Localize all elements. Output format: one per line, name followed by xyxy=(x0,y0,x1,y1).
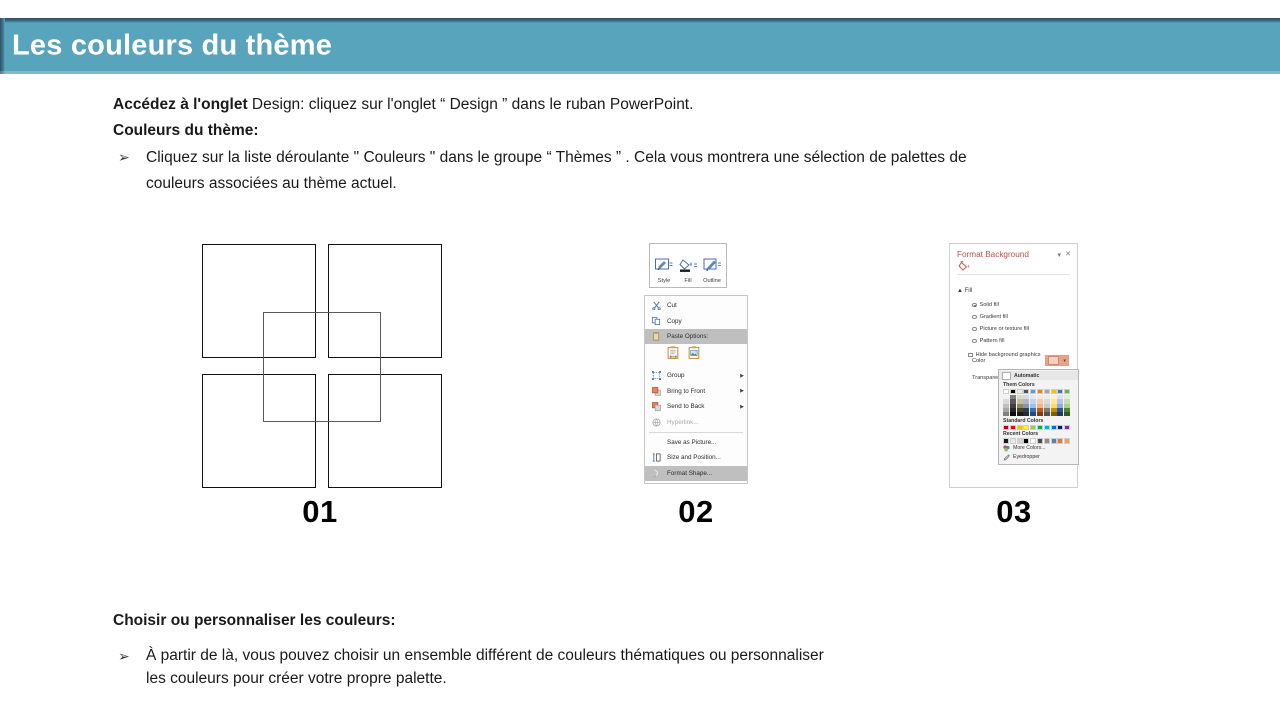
theme-shade-swatch[interactable] xyxy=(1010,412,1016,416)
outro-bullet-line-1: À partir de là, vous pouvez choisir un e… xyxy=(146,644,1113,667)
menu-item-paste-options[interactable]: Paste Options: xyxy=(645,329,747,344)
title-bar-top-edge xyxy=(0,18,1280,23)
theme-shade-swatch[interactable] xyxy=(1023,412,1029,416)
theme-shade-swatch[interactable] xyxy=(1030,412,1036,416)
automatic-label: Automatic xyxy=(1014,373,1039,379)
clipboard-icon xyxy=(645,332,667,341)
theme-shade-swatch[interactable] xyxy=(1037,412,1043,416)
intro-line-2: Couleurs du thème: xyxy=(113,118,1093,144)
eyedropper-label: Eyedropper xyxy=(1013,454,1040,460)
radio-solid-fill[interactable] xyxy=(972,303,977,308)
intro-bullet: ➢ Cliquez sur la liste déroulante " Coul… xyxy=(113,145,1093,196)
paste-picture-icon[interactable] xyxy=(688,346,701,365)
menu-label-send-to-back: Send to Back xyxy=(667,403,737,410)
outro-bullet: ➢ À partir de là, vous pouvez choisir un… xyxy=(113,644,1113,690)
eyedropper-item[interactable]: Eyedropper xyxy=(999,453,1078,462)
radio-pattern-fill[interactable] xyxy=(972,339,977,344)
recent-color-swatch[interactable] xyxy=(1010,438,1016,443)
checkbox-hide-background-graphics[interactable] xyxy=(968,353,973,358)
standard-color-swatch[interactable] xyxy=(1017,425,1023,430)
bullet-arrow-icon-2: ➢ xyxy=(113,644,146,669)
color-dropdown: Automatic Them Colors Standard Colors Re… xyxy=(998,369,1079,465)
scissors-icon xyxy=(645,301,667,310)
figure-number-01: 01 xyxy=(240,494,400,530)
more-colors-label: More Colors... xyxy=(1013,445,1046,451)
paint-bucket-icon xyxy=(676,255,700,277)
mini-toolbar-label-fill: Fill xyxy=(676,277,700,285)
page-title: Les couleurs du thème xyxy=(12,30,332,63)
menu-label-paste-options: Paste Options: xyxy=(667,333,737,340)
label-pattern-fill: Pattern fill xyxy=(980,338,1005,344)
recent-color-swatch[interactable] xyxy=(1023,438,1029,443)
recent-color-swatch[interactable] xyxy=(1057,438,1063,443)
recent-color-swatch[interactable] xyxy=(1044,438,1050,443)
minimize-icon[interactable]: ▾ xyxy=(1057,251,1061,259)
menu-label-group: Group xyxy=(667,372,737,379)
option-solid-fill[interactable]: Solid fill xyxy=(972,302,999,308)
dropdown-automatic-row[interactable]: Automatic xyxy=(999,371,1078,380)
option-gradient-fill[interactable]: Gradient fill xyxy=(972,314,1008,320)
standard-color-swatch[interactable] xyxy=(1010,425,1016,430)
paste-options-row xyxy=(645,344,747,368)
color-picker-button[interactable]: ▾ xyxy=(1045,355,1069,366)
standard-color-swatch[interactable] xyxy=(1037,425,1043,430)
theme-color-column[interactable] xyxy=(1057,389,1063,417)
outro-heading: Choisir ou personnaliser les couleurs: xyxy=(113,609,1113,632)
theme-color-column[interactable] xyxy=(1064,389,1070,417)
option-picture-or-texture-fill[interactable]: Picture or texture fill xyxy=(972,326,1029,332)
menu-item-size-and-position[interactable]: Size and Position... xyxy=(645,450,747,465)
theme-shade-swatch[interactable] xyxy=(1044,412,1050,416)
close-icon[interactable]: ✕ xyxy=(1065,250,1071,258)
figure-number-03: 03 xyxy=(934,494,1094,530)
chevron-down-icon: ▾ xyxy=(1063,358,1066,364)
standard-color-swatch[interactable] xyxy=(1030,425,1036,430)
standard-color-swatch[interactable] xyxy=(1023,425,1029,430)
menu-label-cut: Cut xyxy=(667,302,737,309)
recent-color-swatch[interactable] xyxy=(1030,438,1036,443)
menu-item-cut[interactable]: Cut xyxy=(645,298,747,313)
bullet-arrow-icon: ➢ xyxy=(113,145,146,170)
pen-outline-icon xyxy=(700,255,724,277)
figure-01-squares-diagram xyxy=(202,244,442,488)
standard-color-swatch[interactable] xyxy=(1044,425,1050,430)
theme-color-column[interactable] xyxy=(1003,389,1009,417)
theme-color-column[interactable] xyxy=(1023,389,1029,417)
menu-label-save-as-picture: Save as Picture... xyxy=(667,439,737,446)
menu-label-hyperlink: Hyperlink... xyxy=(667,419,737,426)
title-bar-left-edge xyxy=(0,18,5,74)
recent-color-swatch[interactable] xyxy=(1017,438,1023,443)
standard-colors-row[interactable] xyxy=(999,425,1078,430)
intro-line-1-bold: Accédez à l'onglet xyxy=(113,96,248,113)
standard-color-swatch[interactable] xyxy=(1003,425,1009,430)
theme-shade-swatch[interactable] xyxy=(1057,412,1063,416)
menu-item-copy[interactable]: Copy xyxy=(645,313,747,328)
intro-bullet-line-2: couleurs associées au thème actuel. xyxy=(146,171,1093,197)
paint-bucket-pane-icon[interactable] xyxy=(958,260,972,275)
menu-item-save-as-picture[interactable]: Save as Picture... xyxy=(645,435,747,450)
recent-colors-row[interactable] xyxy=(999,438,1078,443)
intro-line-2-bold: Couleurs du thème: xyxy=(113,122,259,139)
label-gradient-fill: Gradient fill xyxy=(980,314,1008,320)
intro-bullet-body: Cliquez sur la liste déroulante " Couleu… xyxy=(146,145,1093,196)
color-label: Color xyxy=(972,358,985,364)
menu-item-format-shape[interactable]: Format Shape... xyxy=(645,466,747,481)
option-pattern-fill[interactable]: Pattern fill xyxy=(972,338,1004,344)
theme-colors-grid[interactable] xyxy=(999,389,1078,417)
mini-toolbar-label-style: Style xyxy=(652,277,676,285)
menu-item-send-to-back[interactable]: Send to Back ▶ xyxy=(645,399,747,414)
send-back-icon xyxy=(645,402,667,411)
slide-root: Les couleurs du thème Accédez à l'onglet… xyxy=(0,0,1280,720)
menu-arrow-group: ▶ xyxy=(737,373,747,379)
menu-item-bring-to-front[interactable]: Bring to Front ▶ xyxy=(645,384,747,399)
theme-color-column[interactable] xyxy=(1010,389,1016,417)
bring-front-icon xyxy=(645,387,667,396)
format-background-title: Format Background xyxy=(957,250,1029,259)
outro-bullet-body: À partir de là, vous pouvez choisir un e… xyxy=(146,644,1113,690)
fill-section-header[interactable]: ▲ Fill xyxy=(957,288,972,294)
theme-color-column[interactable] xyxy=(1044,389,1050,417)
brush-style-icon xyxy=(652,255,676,277)
more-colors-item[interactable]: More Colors... xyxy=(999,444,1078,453)
eyedropper-icon xyxy=(1003,454,1010,461)
recent-color-swatch[interactable] xyxy=(1064,438,1070,443)
radio-picture-or-texture-fill[interactable] xyxy=(972,327,977,332)
theme-shade-swatch[interactable] xyxy=(1051,412,1057,416)
recent-color-swatch[interactable] xyxy=(1037,438,1043,443)
theme-shade-swatch[interactable] xyxy=(1017,412,1023,416)
theme-shade-swatch[interactable] xyxy=(1003,412,1009,416)
standard-color-swatch[interactable] xyxy=(1064,425,1070,430)
recent-color-swatch[interactable] xyxy=(1003,438,1009,443)
context-menu: Cut Copy Paste Options: xyxy=(644,295,748,484)
outro-bullet-line-2: les couleurs pour créer votre propre pal… xyxy=(146,667,1113,690)
intro-line-1: Accédez à l'onglet Design: cliquez sur l… xyxy=(113,92,1093,118)
size-position-icon xyxy=(645,453,667,462)
color-swatch xyxy=(1048,356,1059,365)
figure-02-context-menu: Style Fill xyxy=(644,243,748,488)
automatic-swatch xyxy=(1002,372,1011,380)
mini-toolbar: Style Fill xyxy=(649,243,727,288)
recent-color-swatch[interactable] xyxy=(1051,438,1057,443)
menu-label-copy: Copy xyxy=(667,318,737,325)
radio-gradient-fill[interactable] xyxy=(972,315,977,320)
pane-divider xyxy=(957,274,1070,275)
recent-colors-header: Recent Colors xyxy=(999,430,1078,439)
mini-toolbar-label-outline: Outline xyxy=(700,277,724,285)
label-solid-fill: Solid fill xyxy=(980,302,999,308)
more-colors-icon xyxy=(1003,445,1010,452)
menu-arrow-send-to-back: ▶ xyxy=(737,404,747,410)
standard-colors-header: Standard Colors xyxy=(999,416,1078,425)
slide-title-bar: Les couleurs du thème xyxy=(0,18,1280,74)
theme-colors-header: Them Colors xyxy=(999,380,1078,389)
theme-shade-swatch[interactable] xyxy=(1064,412,1070,416)
mini-toolbar-item-style[interactable]: Style xyxy=(652,255,676,285)
hyperlink-icon xyxy=(645,418,667,427)
theme-color-column[interactable] xyxy=(1037,389,1043,417)
mini-toolbar-item-outline[interactable]: Outline xyxy=(700,255,724,285)
square-center-overlay xyxy=(263,312,381,422)
group-icon xyxy=(645,371,667,380)
intro-text-block: Accédez à l'onglet Design: cliquez sur l… xyxy=(113,92,1093,196)
standard-color-swatch[interactable] xyxy=(1051,425,1057,430)
menu-label-bring-to-front: Bring to Front xyxy=(667,388,737,395)
outro-text-block: Choisir ou personnaliser les couleurs: ➢… xyxy=(113,609,1113,690)
menu-separator xyxy=(649,432,743,433)
menu-label-size-and-position: Size and Position... xyxy=(667,454,737,461)
format-shape-icon xyxy=(645,469,667,478)
intro-bullet-line-1: Cliquez sur la liste déroulante " Couleu… xyxy=(146,145,1093,171)
mini-toolbar-item-fill[interactable]: Fill xyxy=(676,255,700,285)
copy-icon xyxy=(645,317,667,326)
figure-number-02: 02 xyxy=(616,494,776,530)
menu-arrow-bring-to-front: ▶ xyxy=(737,388,747,394)
label-picture-or-texture-fill: Picture or texture fill xyxy=(980,326,1029,332)
theme-color-column[interactable] xyxy=(1017,389,1023,417)
figure-03-format-background-pane: Format Background ▾ ✕ ▲ Fill Solid fill … xyxy=(949,243,1078,488)
menu-item-hyperlink: Hyperlink... xyxy=(645,414,747,429)
menu-label-format-shape: Format Shape... xyxy=(667,470,737,477)
intro-line-1-rest: Design: cliquez sur l'onglet “ Design ” … xyxy=(248,96,694,113)
paste-keep-formatting-icon[interactable] xyxy=(667,346,680,365)
theme-color-column[interactable] xyxy=(1051,389,1057,417)
theme-color-column[interactable] xyxy=(1030,389,1036,417)
title-bar-bottom-edge xyxy=(0,71,1280,74)
menu-item-group[interactable]: Group ▶ xyxy=(645,368,747,383)
standard-color-swatch[interactable] xyxy=(1057,425,1063,430)
